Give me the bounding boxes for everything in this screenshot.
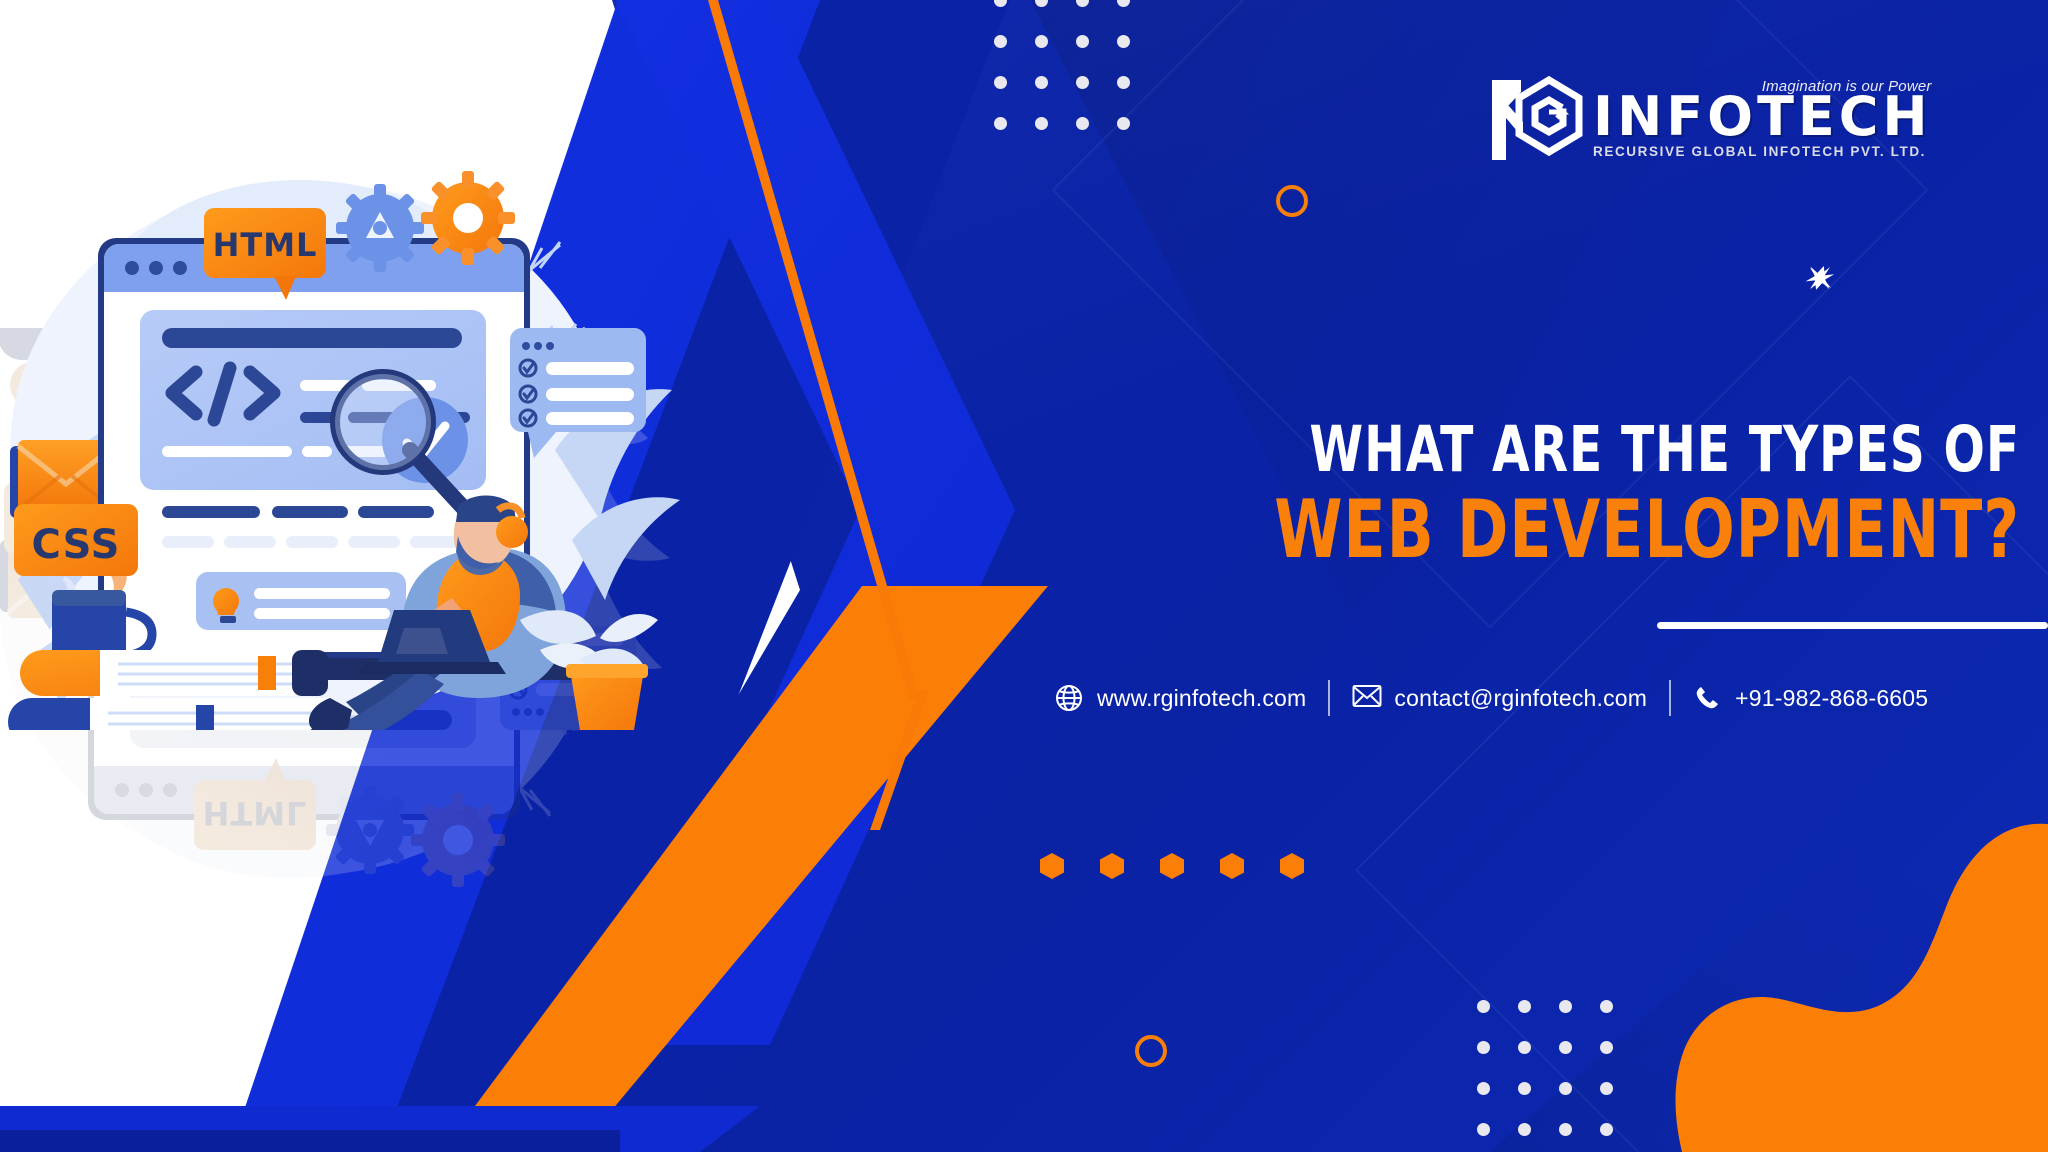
- logo-lockup-text: Imagination is our Power INFOTECH RECURS…: [1593, 72, 1932, 159]
- envelope-icon: [1352, 684, 1380, 712]
- illustration: HTML: [0, 150, 700, 730]
- contact-phone[interactable]: +91-982-868-6605: [1693, 684, 1928, 712]
- headline-line-2: Web Development?: [1272, 488, 2020, 571]
- logo-wordmark: INFOTECH: [1593, 91, 1932, 142]
- ring-outline-icon: [1276, 185, 1308, 217]
- dot-grid: [994, 0, 1130, 130]
- divider: [1328, 680, 1330, 716]
- website-text: www.rginfotech.com: [1097, 685, 1306, 712]
- ring-outline-icon: [1135, 1035, 1167, 1067]
- headline-line-1: What are the types of: [1272, 418, 2020, 482]
- sparkle-icon: [1800, 258, 1840, 298]
- banner-canvas: HTML: [0, 0, 2048, 1152]
- logo-legal-name: RECURSIVE GLOBAL INFOTECH PVT. LTD.: [1593, 144, 1932, 159]
- phone-icon: [1693, 684, 1721, 712]
- globe-icon: [1055, 684, 1083, 712]
- contact-website[interactable]: www.rginfotech.com: [1055, 684, 1306, 712]
- phone-text: +91-982-868-6605: [1735, 685, 1928, 712]
- email-text: contact@rginfotech.com: [1394, 685, 1647, 712]
- accent-rule: [1657, 622, 2048, 629]
- organic-blob-shape: [1578, 762, 2048, 1152]
- hexagon-dot-row: [1040, 853, 1304, 879]
- divider: [1669, 680, 1671, 716]
- rg-hexagon-logo-icon: [1487, 72, 1587, 168]
- contact-bar: www.rginfotech.com contact@rginfotech.co…: [1055, 680, 1928, 716]
- brand-logo[interactable]: Imagination is our Power INFOTECH RECURS…: [1487, 72, 1932, 168]
- headline-block: What are the types of Web Development?: [1150, 418, 2020, 571]
- contact-email[interactable]: contact@rginfotech.com: [1352, 684, 1647, 712]
- background-bottom-strip-dark: [0, 1130, 620, 1152]
